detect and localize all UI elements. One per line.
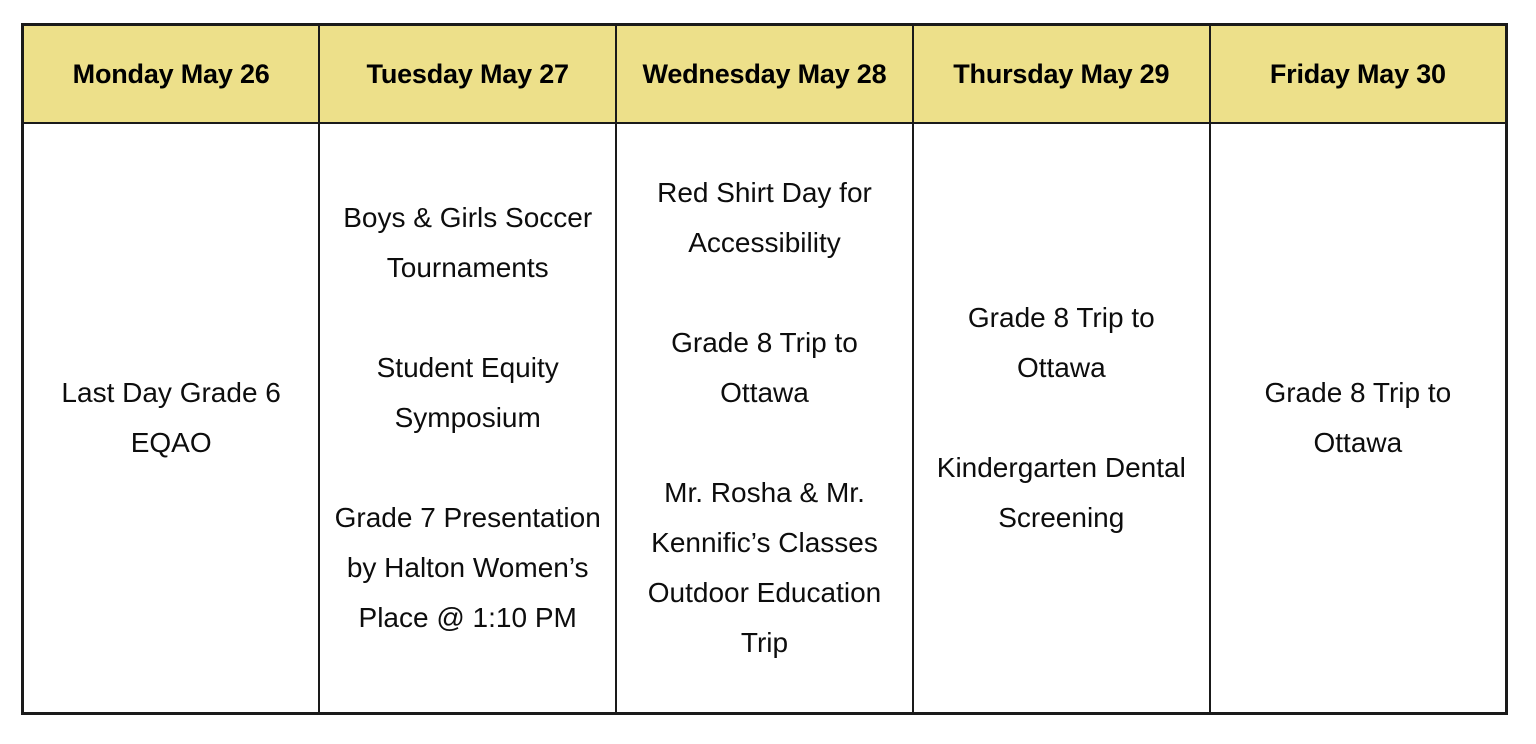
day-header-thursday: Thursday May 29 [913, 25, 1210, 123]
calendar-page: Monday May 26 Tuesday May 27 Wednesday M… [0, 0, 1536, 744]
event-entry: Grade 8 Trip to Ottawa [625, 318, 904, 418]
event-entry: Boys & Girls Soccer Tournaments [328, 193, 607, 293]
event-entry: Last Day Grade 6 EQAO [32, 368, 310, 468]
day-cell-thursday: Grade 8 Trip to Ottawa Kindergarten Dent… [913, 123, 1210, 714]
day-header-tuesday: Tuesday May 27 [319, 25, 616, 123]
event-entry: Student Equity Symposium [328, 343, 607, 443]
events-row: Last Day Grade 6 EQAO Boys & Girls Socce… [23, 123, 1507, 714]
day-cell-friday: Grade 8 Trip to Ottawa [1210, 123, 1507, 714]
entry-list-monday: Last Day Grade 6 EQAO [32, 368, 310, 468]
day-header-monday: Monday May 26 [23, 25, 320, 123]
event-entry: Mr. Rosha & Mr. Kennific’s Classes Outdo… [625, 468, 904, 668]
day-header-row: Monday May 26 Tuesday May 27 Wednesday M… [23, 25, 1507, 123]
day-cell-wednesday: Red Shirt Day for Accessibility Grade 8 … [616, 123, 913, 714]
entry-list-friday: Grade 8 Trip to Ottawa [1219, 368, 1497, 468]
entry-list-wednesday: Red Shirt Day for Accessibility Grade 8 … [625, 168, 904, 668]
weekly-calendar-table: Monday May 26 Tuesday May 27 Wednesday M… [21, 23, 1508, 715]
event-entry: Grade 8 Trip to Ottawa [1219, 368, 1497, 468]
entry-list-tuesday: Boys & Girls Soccer Tournaments Student … [328, 193, 607, 643]
entry-list-thursday: Grade 8 Trip to Ottawa Kindergarten Dent… [922, 293, 1201, 543]
day-header-friday: Friday May 30 [1210, 25, 1507, 123]
event-entry: Grade 7 Presentation by Halton Women’s P… [328, 493, 607, 643]
day-header-wednesday: Wednesday May 28 [616, 25, 913, 123]
event-entry: Red Shirt Day for Accessibility [625, 168, 904, 268]
table-body: Last Day Grade 6 EQAO Boys & Girls Socce… [23, 123, 1507, 714]
day-cell-monday: Last Day Grade 6 EQAO [23, 123, 320, 714]
event-entry: Kindergarten Dental Screening [922, 443, 1201, 543]
event-entry: Grade 8 Trip to Ottawa [922, 293, 1201, 393]
table-header-row-group: Monday May 26 Tuesday May 27 Wednesday M… [23, 25, 1507, 123]
day-cell-tuesday: Boys & Girls Soccer Tournaments Student … [319, 123, 616, 714]
